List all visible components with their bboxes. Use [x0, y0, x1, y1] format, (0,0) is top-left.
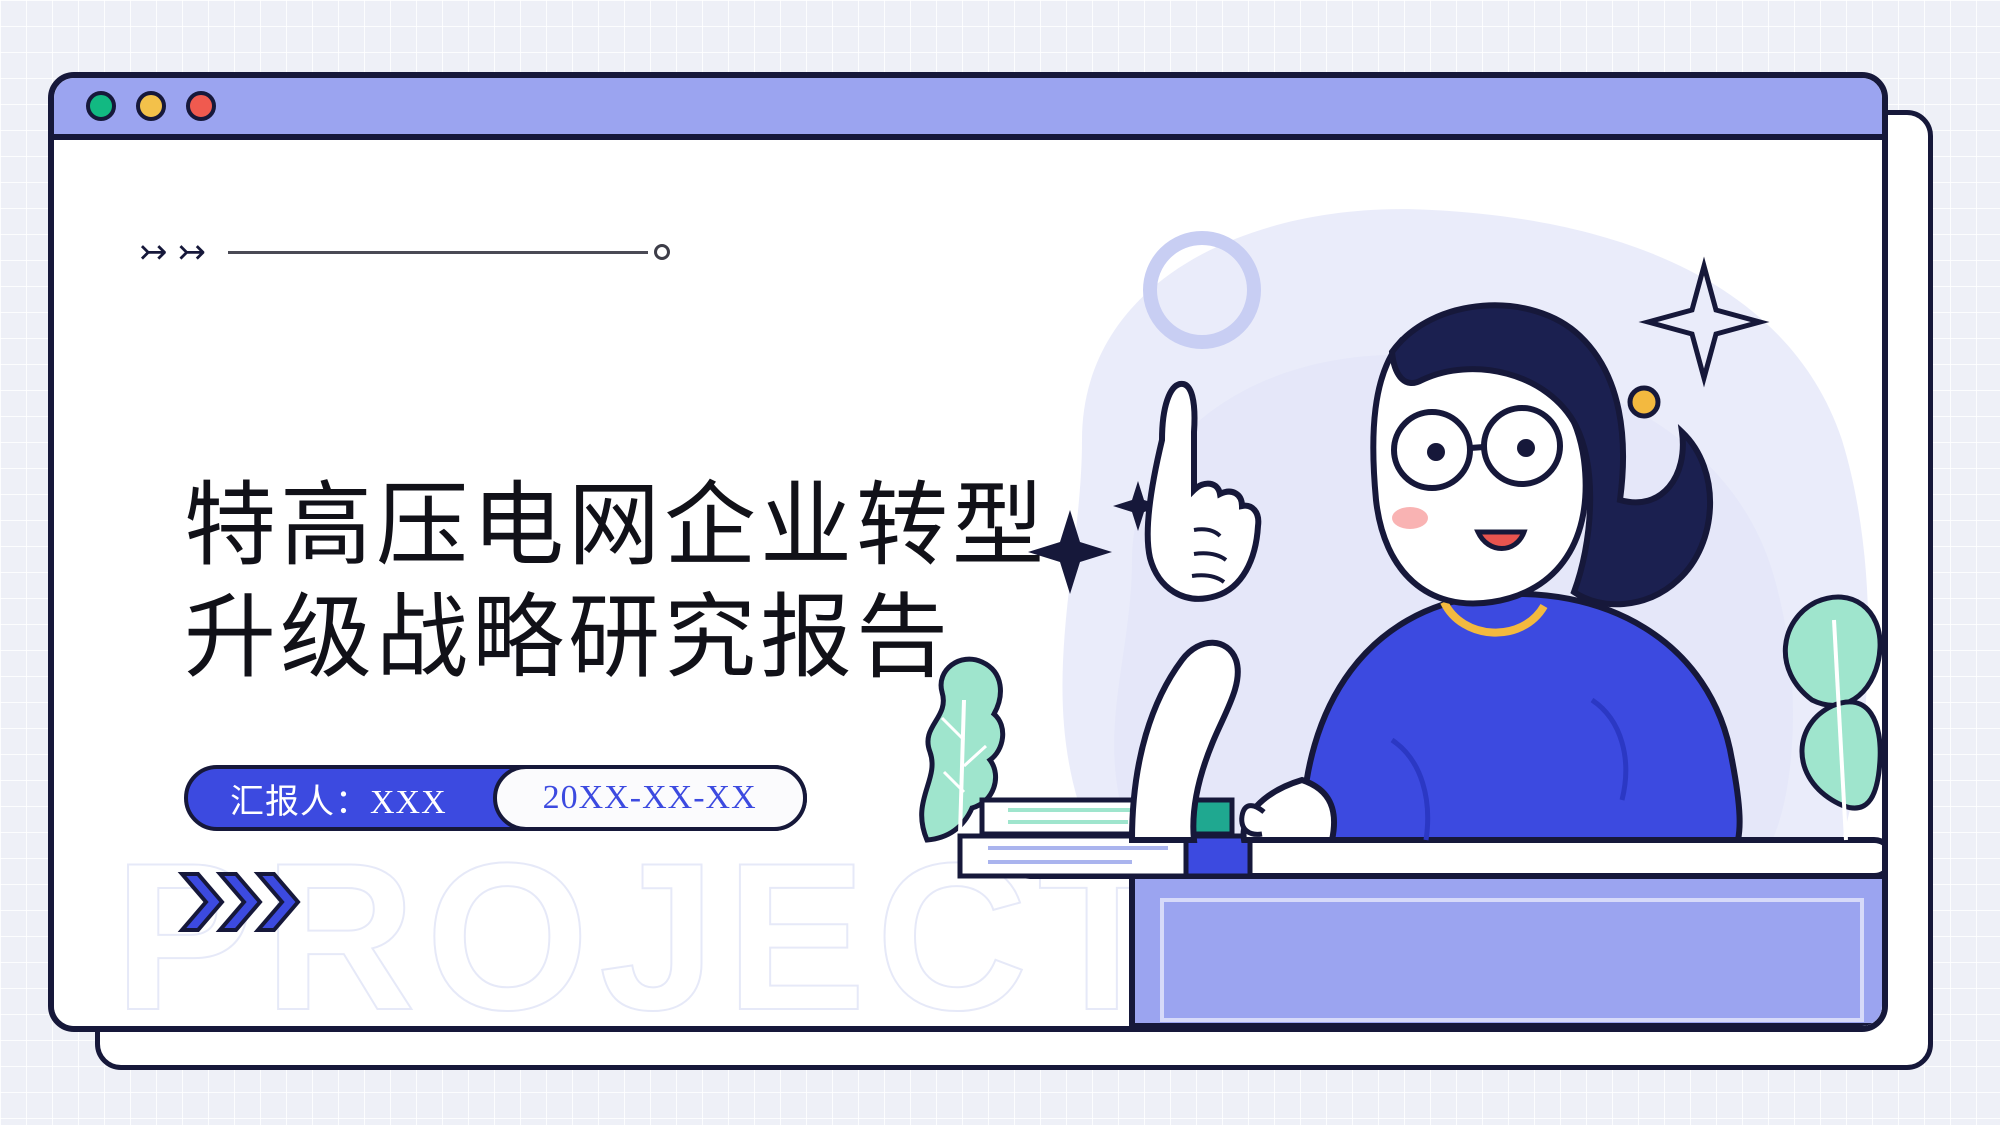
ponytail [1392, 305, 1710, 604]
page-title-line-1: 特高压电网企业转型 [184, 470, 1048, 582]
line-endpoint-circle-icon [654, 244, 670, 260]
right-arm-thumb [1242, 780, 1334, 840]
sparkle-corner [1648, 266, 1760, 378]
ring-outline-circle [1150, 238, 1254, 342]
character-body [1302, 594, 1740, 840]
page-title-line-2: 升级战略研究报告 [184, 582, 1048, 694]
sparkle-small [1113, 481, 1163, 531]
slide-canvas: ↣ ↣ PROJECT 特高压电网企业转型 升级战略研究报告 汇报人：XXX 2… [54, 140, 1882, 1026]
left-arm-raised [1132, 643, 1238, 840]
chevron-right-triple-icon [176, 866, 316, 938]
arrow-right-icon-1: ↣ [139, 235, 168, 269]
decorative-line-row: ↣ ↣ [139, 235, 670, 269]
presenter-label: 汇报人：XXX [188, 769, 493, 827]
pointing-hand [1148, 384, 1259, 599]
traffic-light-green-icon[interactable] [86, 91, 116, 121]
traffic-light-yellow-icon[interactable] [136, 91, 166, 121]
slide-page: ↣ ↣ PROJECT 特高压电网企业转型 升级战略研究报告 汇报人：XXX 2… [0, 0, 2000, 1125]
arrow-right-icon-2: ↣ [178, 235, 207, 269]
character-head [1373, 305, 1710, 604]
open-book [1252, 790, 1636, 840]
browser-window-frame: ↣ ↣ PROJECT 特高压电网企业转型 升级战略研究报告 汇报人：XXX 2… [48, 72, 1888, 1032]
glasses [1394, 408, 1560, 488]
leaf-plant-right [1785, 597, 1880, 840]
window-titlebar [54, 78, 1882, 140]
presenter-pill[interactable]: 汇报人：XXX 20XX-XX-XX [184, 765, 807, 831]
horizontal-rule [228, 251, 648, 254]
presentation-date: 20XX-XX-XX [493, 765, 807, 831]
page-title: 特高压电网企业转型 升级战略研究报告 [184, 470, 1048, 694]
traffic-light-red-icon[interactable] [186, 91, 216, 121]
